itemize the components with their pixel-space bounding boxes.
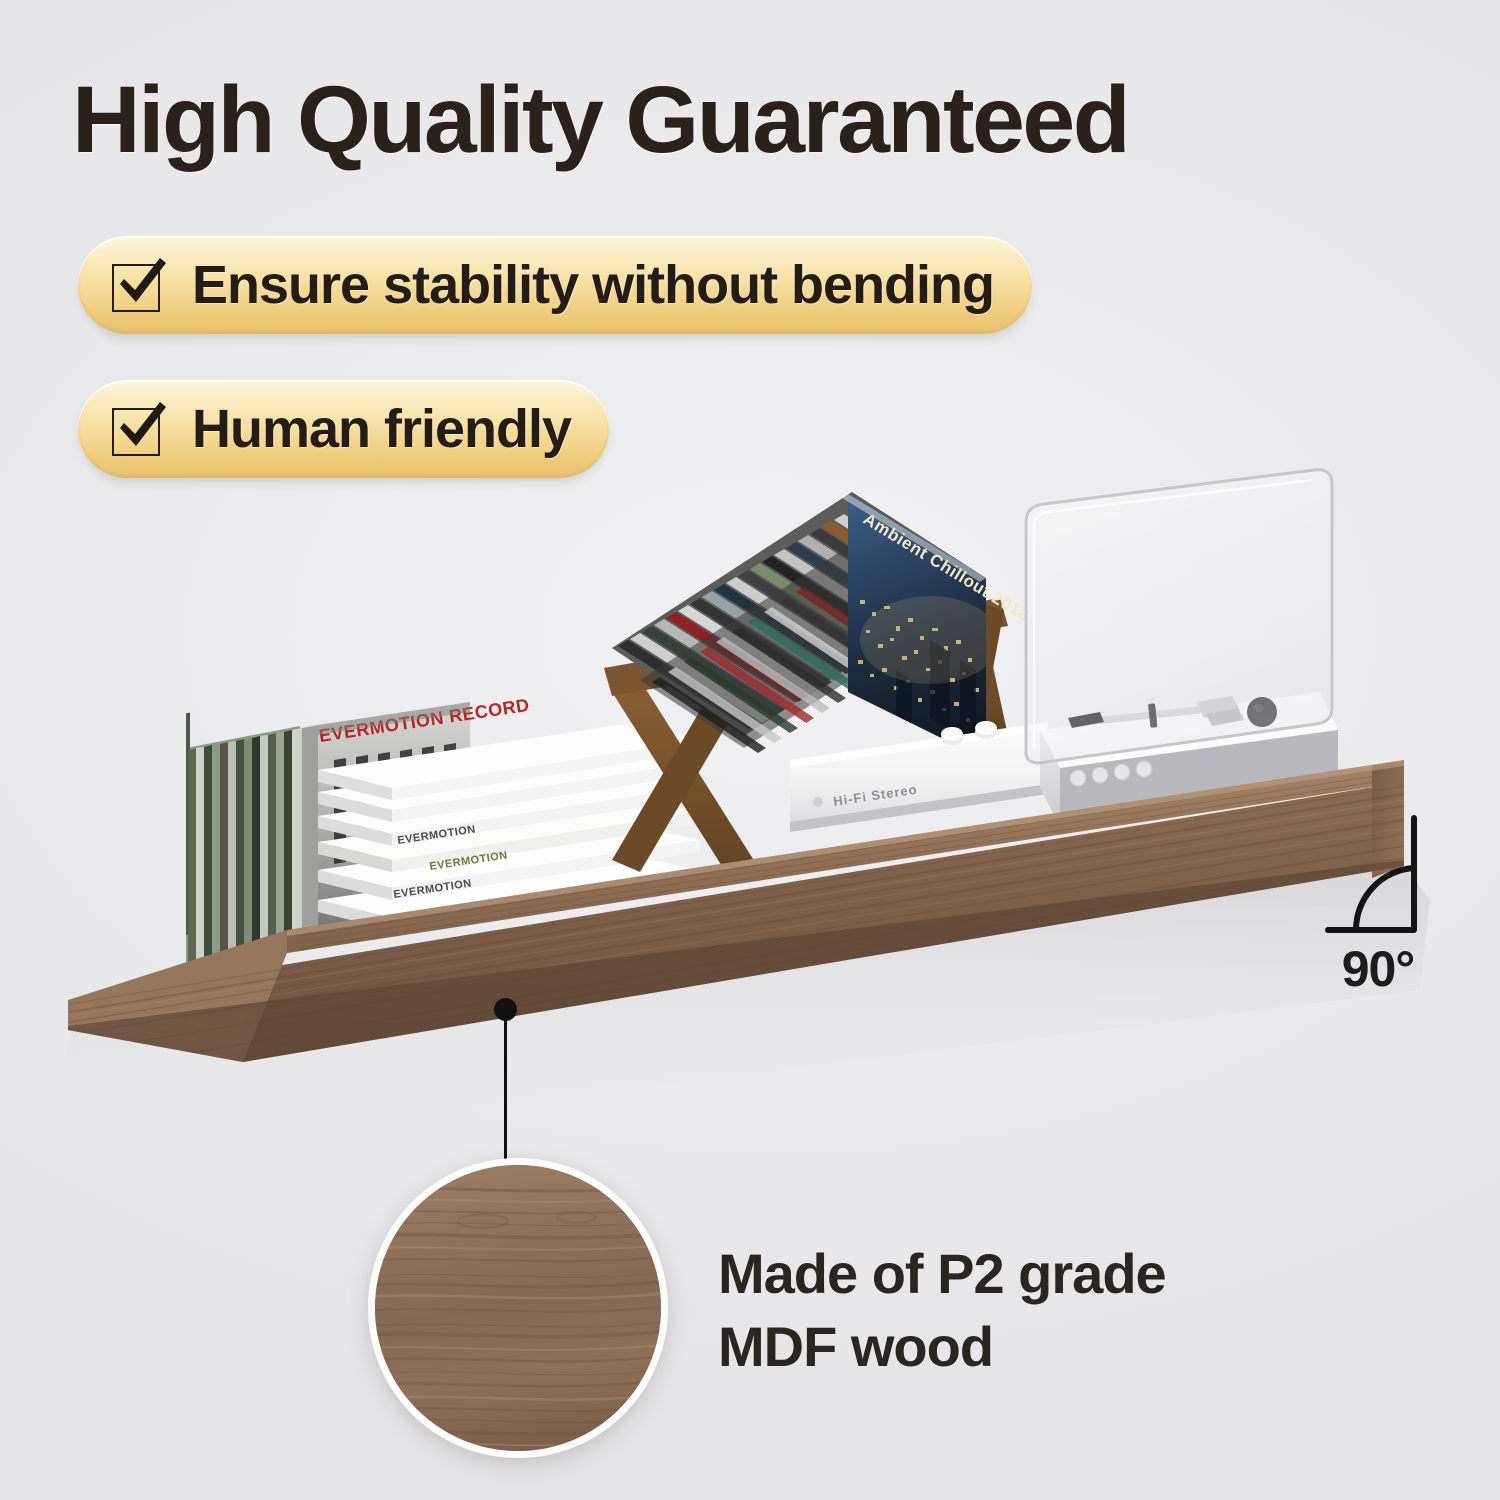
turntable — [1026, 470, 1338, 826]
angle-label: 90° — [1318, 940, 1438, 998]
page-title: High Quality Guaranteed — [72, 66, 1128, 175]
dust-cover-lid — [1026, 470, 1332, 763]
material-callout-line1: Made of P2 grade — [718, 1238, 1166, 1311]
wood-grain-closeup — [368, 1158, 668, 1458]
checkbox-checked-icon — [110, 256, 168, 314]
stereo-receiver: Hi-Fi Stereo — [790, 721, 1048, 832]
product-infographic: High Quality Guaranteed Ensure stability… — [0, 0, 1500, 1500]
right-angle-icon — [1322, 812, 1432, 942]
material-callout-line2: MDF wood — [718, 1311, 1166, 1384]
tilted-record-collection: Ambient Chillout 2018 — [612, 492, 1033, 760]
feature-badge-label: Ensure stability without bending — [192, 258, 994, 312]
product-scene: EVERMOTION RECORD E — [0, 430, 1500, 1130]
material-callout-text: Made of P2 grade MDF wood — [718, 1238, 1166, 1384]
callout-leader-line — [504, 1016, 507, 1168]
feature-badge-stability: Ensure stability without bending — [78, 236, 1032, 334]
